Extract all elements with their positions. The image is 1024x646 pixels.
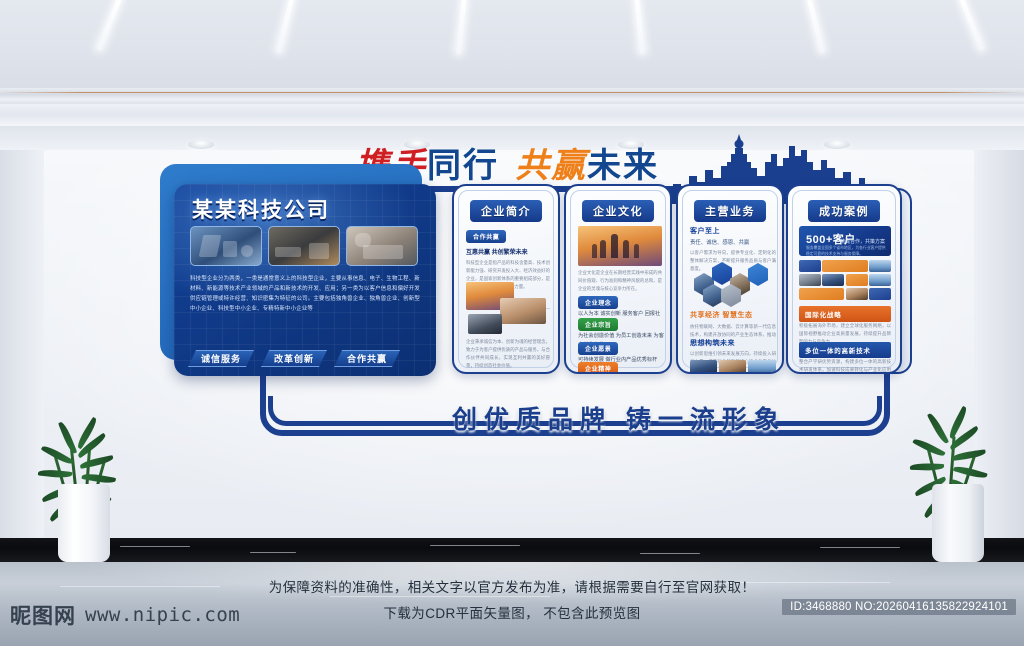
hexagon-cluster <box>694 262 764 306</box>
card-title-corporate-culture: 企业文化 <box>582 200 654 222</box>
bar-international-strategy: 国际化战略 <box>799 306 891 322</box>
card2-item-4: 企业精神 团结 诚信 高效 开拓 <box>578 358 664 374</box>
watermark: 昵图网 www.nipic.com <box>10 600 240 630</box>
card3-section-1: 客户至上 <box>690 226 776 236</box>
plant-pot <box>58 484 110 562</box>
headline-part-3: 共赢 <box>515 146 587 186</box>
card-title-success-cases: 成功案例 <box>808 200 880 222</box>
laptop-hands-photo <box>346 226 418 266</box>
card-success-cases[interactable]: 成功案例 500+客户 精诚合作，共策方案 服务覆盖全国多个省市地区，为各行业客… <box>786 184 902 374</box>
orange-block <box>822 260 867 272</box>
ceiling-band <box>0 88 1024 104</box>
handshake-photo <box>500 298 546 324</box>
orange-block <box>799 288 844 300</box>
orange-block <box>846 274 868 286</box>
plane-photo <box>799 260 821 272</box>
card-title-company-profile: 企业简介 <box>470 200 542 222</box>
badge-company-spirit: 企业精神 <box>578 362 618 374</box>
watermark-brand-cn: 昵图网 <box>10 600 76 630</box>
potted-plant-left <box>28 432 138 562</box>
tech-photo <box>869 288 891 300</box>
plant-pot <box>932 484 984 562</box>
ceiling-accent-line <box>0 92 1024 93</box>
bar-high-tech: 多位一体的高新技术 <box>799 342 891 358</box>
tag-win-win-cooperation[interactable]: 合作共赢 <box>334 350 400 367</box>
arrow-photo <box>799 274 821 286</box>
clients-highlight-box: 500+客户 精诚合作，共策方案 服务覆盖全国多个省市地区，为各行业客户提供稳定… <box>799 226 891 256</box>
sky-photo <box>869 274 891 286</box>
building-photo <box>748 360 776 374</box>
ceiling-band-lower <box>0 104 1024 126</box>
hex-accent-1 <box>712 262 732 285</box>
company-name: 某某科技公司 <box>192 194 330 224</box>
factory-workshop-photo <box>268 226 340 266</box>
bottom-slogan: 创优质品牌 铸一流形象 <box>452 400 786 436</box>
card-main-business[interactable]: 主营业务 客户至上 责任、诚信、感恩、共赢 以客户需求为导向，提供专业化、定制化… <box>676 184 784 374</box>
headline-part-2: 同行 <box>427 147 499 185</box>
tag-integrity-service[interactable]: 诚信服务 <box>188 350 254 367</box>
tag-reform-innovation[interactable]: 改革创新 <box>261 350 327 367</box>
card1-paragraph-2: 企业秉承诚信为本、创新为魂的经营理念，致力于为客户提供优质的产品与服务，与合作伙… <box>466 338 550 370</box>
card1-subtitle: 互惠共赢 共创繁荣未来 <box>466 247 550 256</box>
card3-section-3: 思想构筑未来 <box>690 338 776 348</box>
panel-tag-row: 诚信服务 改革创新 合作共赢 <box>188 350 400 367</box>
footer-disclaimer-line-1: 为保障资料的准确性，相关文字以官方发布为准，请根据需要自行至官网获取！ <box>0 576 1024 596</box>
card3-hex-label: 共享经济 智慧生态 <box>690 310 776 320</box>
handshake-photo <box>719 360 746 374</box>
badge-company-philosophy: 企业理念 <box>578 296 618 309</box>
badge-company-vision: 企业愿景 <box>578 342 618 355</box>
teamwork-sunset-photo <box>578 226 662 266</box>
panel-thumbnail-row <box>190 226 418 266</box>
card3-photo-row <box>690 360 776 374</box>
lab-research-photo <box>190 226 262 266</box>
potted-plant-right <box>900 426 1010 562</box>
company-description: 科技型企业分为两类，一类是通常意义上的科技型企业，主要从事信息、电子、生物工程、… <box>190 274 420 314</box>
badge-cooperation: 合作共赢 <box>466 230 506 243</box>
badge-company-mission: 企业宗旨 <box>578 318 618 331</box>
watermark-url: www.nipic.com <box>85 604 240 626</box>
team-photo <box>690 360 717 374</box>
handshake-photo <box>846 288 868 300</box>
card-corporate-culture[interactable]: 企业文化 企业文化是企业在长期经营实践中形成的共同价值观、行为准则和精神风貌的总… <box>564 184 672 374</box>
bar2-text: 整合产学研优势资源，构建多位一体的高新技术研发体系，加速科技成果转化与产业化应用… <box>799 358 891 374</box>
headline-part-4: 未来 <box>587 147 659 185</box>
team-photo <box>822 274 844 286</box>
case-photo-mosaic <box>799 260 891 300</box>
clients-subtitle: 精诚合作，共策方案 <box>840 238 885 245</box>
card-company-profile[interactable]: 企业简介 合作共赢 互惠共赢 共创繁荣未来 科技型企业是指产品的科技含量高、技术… <box>452 184 560 374</box>
vehicle-photo <box>468 314 502 334</box>
asset-id-badge: ID:3468880 NO:20260416135822924101 <box>782 599 1016 615</box>
ceiling <box>0 0 1024 92</box>
screenshot-root: 携手同行共赢未来 创优质品牌 铸一流形象 某某科技公司 <box>0 0 1024 646</box>
company-intro-panel: 某某科技公司 科技型企业分为两类，一类是通常意义上的科技型企业，主要从事信息、电… <box>174 184 436 376</box>
card-title-main-business: 主营业务 <box>694 200 766 222</box>
card1-photo-collage <box>466 282 550 334</box>
clients-note: 服务覆盖全国多个省市地区，为各行业客户提供稳定可靠的技术支持与服务保障。 <box>806 246 886 256</box>
wall-culture-artwork: 携手同行共赢未来 创优质品牌 铸一流形象 某某科技公司 <box>160 128 890 438</box>
city-photo <box>869 260 891 272</box>
card2-hero-caption: 企业文化是企业在长期经营实践中形成的共同价值观、行为准则和精神风貌的总和，是企业… <box>578 269 662 293</box>
baseboard <box>0 538 1024 562</box>
card3-section-1-sub: 责任、诚信、感恩、共赢 <box>690 238 776 246</box>
